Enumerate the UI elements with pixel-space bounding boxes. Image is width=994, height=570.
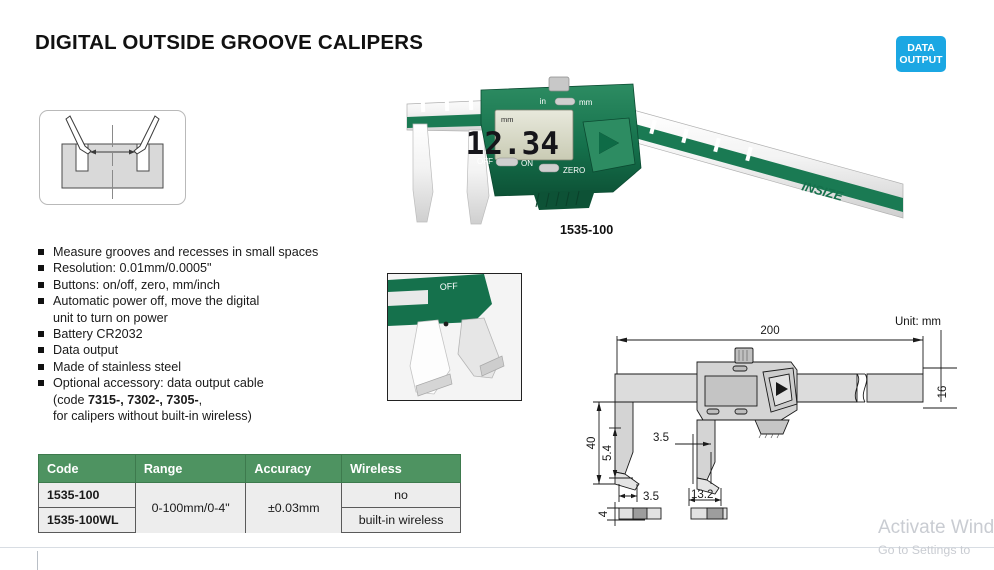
catalog-page: DIGITAL OUTSIDE GROOVE CALIPERS DATA OUT…: [0, 0, 994, 570]
feature-item: Optional accessory: data output cable (c…: [38, 375, 378, 424]
badge-line-2: OUTPUT: [899, 54, 942, 66]
feature-item: Data output: [38, 342, 378, 358]
feature-accessory-codes-line: (code 7315-, 7302-, 7305-,: [53, 392, 378, 408]
feature-text-continued: unit to turn on power: [53, 310, 378, 326]
button-mm-label: mm: [579, 98, 593, 107]
accessory-suffix: ,: [199, 393, 203, 407]
technical-drawing: 200 16 40 5.4 3.5 3.5 13.2 4: [585, 312, 985, 527]
accessory-prefix: (code: [53, 393, 88, 407]
footer-divider: [0, 547, 994, 548]
table-row: 1535-100 0-100mm/0-4" ±0.03mm no: [39, 483, 461, 508]
dim-tip-thickness-text: 4: [598, 510, 610, 517]
cell-code: 1535-100: [39, 483, 136, 508]
column-header-range: Range: [135, 455, 246, 483]
cell-wireless: built-in wireless: [342, 508, 461, 533]
dim-jaw-offset-text: 13.2: [691, 489, 713, 501]
feature-text: Automatic power off, move the digital: [53, 294, 259, 308]
dim-tip-right-text: 3.5: [653, 432, 669, 444]
application-illustration-box: [39, 110, 186, 205]
dim-tip-left-text: 3.5: [643, 491, 659, 503]
feature-text: Measure grooves and recesses in small sp…: [53, 245, 318, 259]
feature-text: Made of stainless steel: [53, 360, 181, 374]
button-on-label: ON: [521, 159, 533, 168]
feature-text: Resolution: 0.01mm/0.0005": [53, 261, 212, 275]
activation-watermark-subtitle: Go to Settings to: [878, 543, 970, 557]
feature-text: Battery CR2032: [53, 327, 143, 341]
product-photo-main: INSIZE 12.34 mm in mm OFF ON ZERO: [383, 72, 928, 227]
dim-jaw-depth-text: 40: [586, 437, 598, 450]
feature-text-continued-2: for calipers without built-in wireless): [53, 408, 378, 424]
product-photo-caption: 1535-100: [560, 223, 613, 237]
dim-beam-height-text: 16: [937, 386, 949, 399]
feature-list: Measure grooves and recesses in small sp…: [38, 244, 378, 424]
groove-measurement-diagram: [40, 111, 185, 204]
cell-accuracy: ±0.03mm: [246, 483, 342, 533]
cell-range: 0-100mm/0-4": [135, 483, 246, 533]
cell-code: 1535-100WL: [39, 508, 136, 533]
column-header-accuracy: Accuracy: [246, 455, 342, 483]
feature-item: Automatic power off, move the digital un…: [38, 293, 378, 326]
column-header-code: Code: [39, 455, 136, 483]
column-header-wireless: Wireless: [342, 455, 461, 483]
footer-tick: [37, 551, 38, 570]
table-header-row: Code Range Accuracy Wireless: [39, 455, 461, 483]
button-zero-label: ZERO: [563, 166, 585, 175]
feature-text: Buttons: on/off, zero, mm/inch: [53, 278, 220, 292]
product-photo-detail: OFF: [387, 273, 522, 401]
page-title: DIGITAL OUTSIDE GROOVE CALIPERS: [35, 31, 423, 55]
feature-item: Buttons: on/off, zero, mm/inch: [38, 277, 378, 293]
dim-length-text: 200: [760, 325, 779, 337]
button-off-label: OFF: [477, 157, 493, 166]
dim-jaw-inner-text: 5.4: [602, 444, 614, 461]
feature-item: Measure grooves and recesses in small sp…: [38, 244, 378, 260]
dimension-drawing: 200 16 40 5.4 3.5 3.5 13.2 4: [585, 312, 985, 527]
cell-wireless: no: [342, 483, 461, 508]
data-output-badge: DATA OUTPUT: [896, 36, 946, 72]
feature-item: Made of stainless steel: [38, 359, 378, 375]
feature-item: Battery CR2032: [38, 326, 378, 342]
badge-line-1: DATA: [907, 42, 935, 54]
jaw-tips-closeup-illustration: OFF: [388, 274, 521, 400]
activation-watermark-title: Activate Windo: [878, 517, 994, 539]
feature-text: Data output: [53, 343, 118, 357]
specification-table: Code Range Accuracy Wireless 1535-100 0-…: [38, 454, 461, 533]
button-in-label: in: [540, 97, 546, 106]
feature-text: Optional accessory: data output cable: [53, 376, 264, 390]
detail-off-label: OFF: [439, 281, 458, 292]
accessory-codes: 7315-, 7302-, 7305-: [88, 393, 199, 407]
feature-item: Resolution: 0.01mm/0.0005": [38, 260, 378, 276]
digital-caliper-illustration: INSIZE 12.34 mm in mm OFF ON ZERO: [383, 72, 928, 227]
lcd-unit-text: mm: [501, 115, 514, 124]
